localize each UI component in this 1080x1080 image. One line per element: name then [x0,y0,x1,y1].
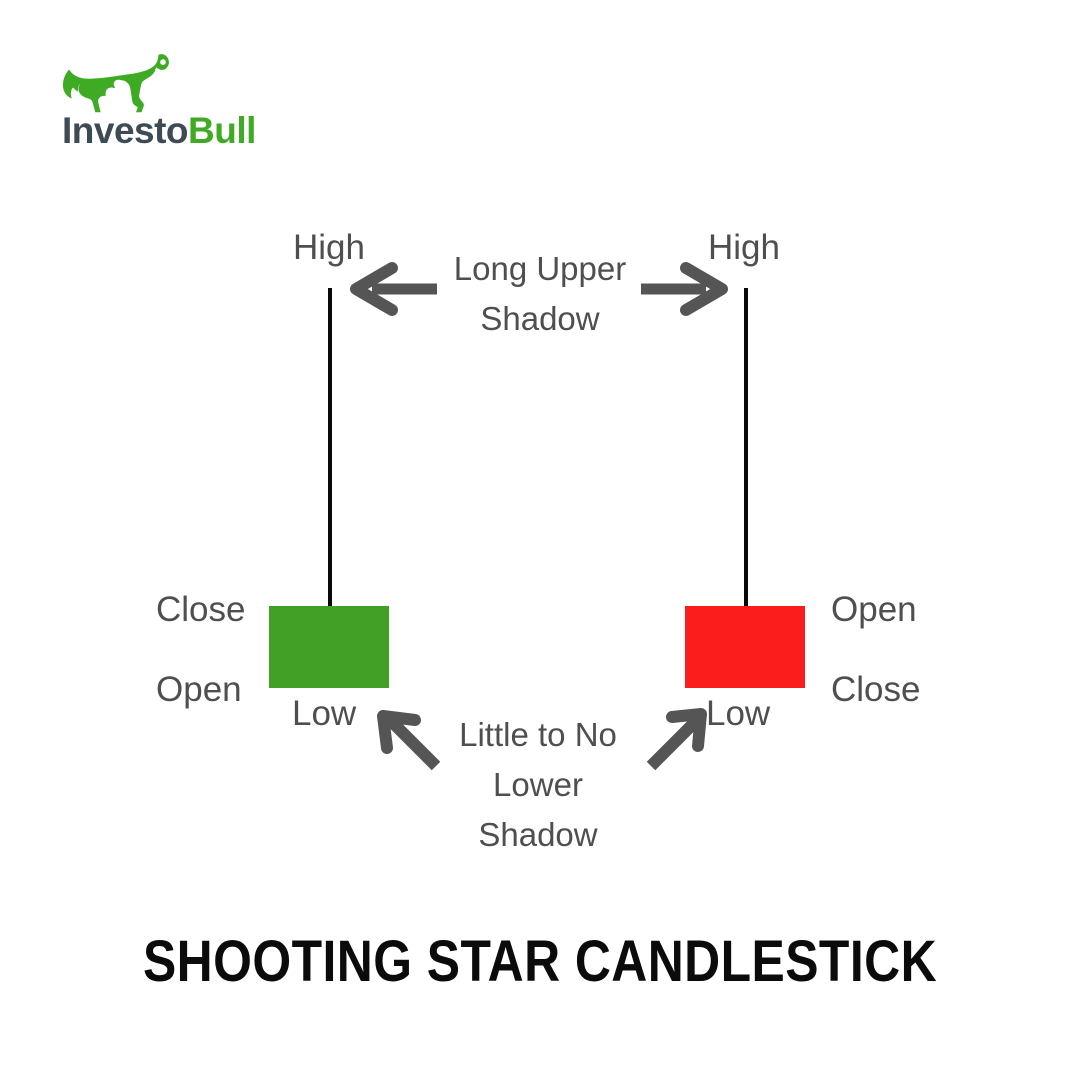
page-title: SHOOTING STAR CANDLESTICK [76,928,1005,995]
bullish-candle-low-label: Low [292,694,356,734]
bullish-candle-upper-wick [328,288,332,608]
diagram-arrows-layer [0,0,1080,1080]
bull-icon [62,52,172,114]
upper-shadow-annotation-line-2: Shadow [440,294,640,344]
arrow-upright-lower-shadow [651,714,701,766]
lower-shadow-annotation-line-1: Little to No [438,710,638,760]
bearish-candle-low-label: Low [706,694,770,734]
bullish-candle-close-label: Close [156,590,245,630]
arrow-left-upper-shadow [356,268,437,310]
bearish-candle-high-label: High [708,228,780,268]
bearish-candle-open-label: Open [831,590,917,630]
arrow-upleft-lower-shadow [383,716,436,766]
bullish-candle-open-label: Open [156,670,242,710]
upper-shadow-annotation: Long Upper Shadow [440,244,640,344]
lower-shadow-annotation-line-2: Lower [438,760,638,810]
bearish-candle-close-label: Close [831,670,920,710]
bearish-candle-upper-wick [744,288,748,608]
brand-name-primary: Investo [62,110,188,151]
bullish-candle-body [269,606,389,688]
brand-wordmark: InvestoBull [62,109,262,153]
brand-logo: InvestoBull [62,52,262,152]
arrow-right-upper-shadow [641,268,722,310]
lower-shadow-annotation: Little to No Lower Shadow [438,710,638,860]
brand-name-secondary: Bull [188,110,256,151]
lower-shadow-annotation-line-3: Shadow [438,810,638,860]
bearish-candle-body [685,606,805,688]
upper-shadow-annotation-line-1: Long Upper [440,244,640,294]
bullish-candle-high-label: High [293,228,365,268]
